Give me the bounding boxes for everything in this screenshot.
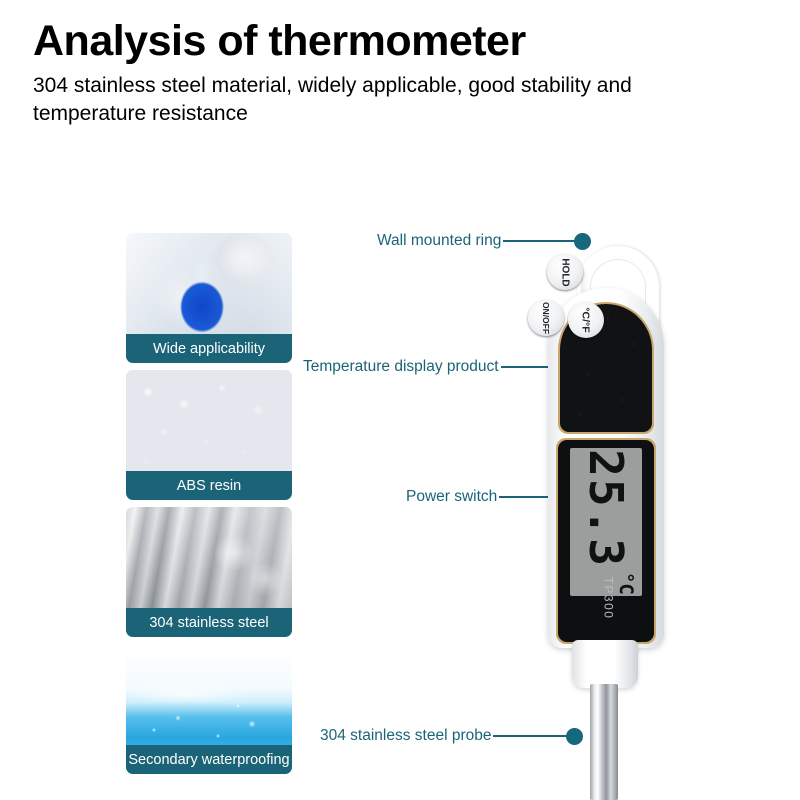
callout-label: Power switch (406, 488, 497, 506)
feature-card-label: Secondary waterproofing (126, 745, 292, 774)
page-title: Analysis of thermometer (33, 18, 753, 64)
lcd-temperature-reading: 25.3 (583, 449, 629, 568)
celsius-fahrenheit-label: °C/°F (580, 307, 592, 332)
feature-card-secondary-waterproofing: Secondary waterproofing (126, 644, 292, 774)
header: Analysis of thermometer 304 stainless st… (33, 18, 753, 128)
model-name: TP300 (580, 572, 636, 624)
thermometer-product-image: HOLD ON/OFF °C/°F 25.3 °C TP300 (520, 240, 710, 800)
probe-neck (572, 640, 638, 688)
feature-card-list: Wide applicability ABS resin 304 stainle… (126, 233, 292, 781)
page-subtitle: 304 stainless steel material, widely app… (33, 72, 733, 127)
feature-card-label: ABS resin (126, 471, 292, 500)
power-switch-button[interactable]: ON/OFF (528, 300, 564, 336)
callout-label: Wall mounted ring (377, 232, 501, 250)
feature-card-wide-applicability: Wide applicability (126, 233, 292, 363)
hold-button-label: HOLD (560, 258, 571, 286)
power-switch-label: ON/OFF (541, 302, 551, 334)
feature-card-304-stainless-steel: 304 stainless steel (126, 507, 292, 637)
callout-label: 304 stainless steel probe (320, 727, 491, 745)
feature-card-abs-resin: ABS resin (126, 370, 292, 500)
celsius-fahrenheit-button[interactable]: °C/°F (568, 302, 604, 338)
callout-label: Temperature display product (303, 358, 499, 376)
hold-button[interactable]: HOLD (547, 254, 583, 290)
stainless-steel-probe (590, 684, 618, 800)
feature-card-label: 304 stainless steel (126, 608, 292, 637)
model-name-label: TP300 (601, 577, 615, 620)
feature-card-label: Wide applicability (126, 334, 292, 363)
